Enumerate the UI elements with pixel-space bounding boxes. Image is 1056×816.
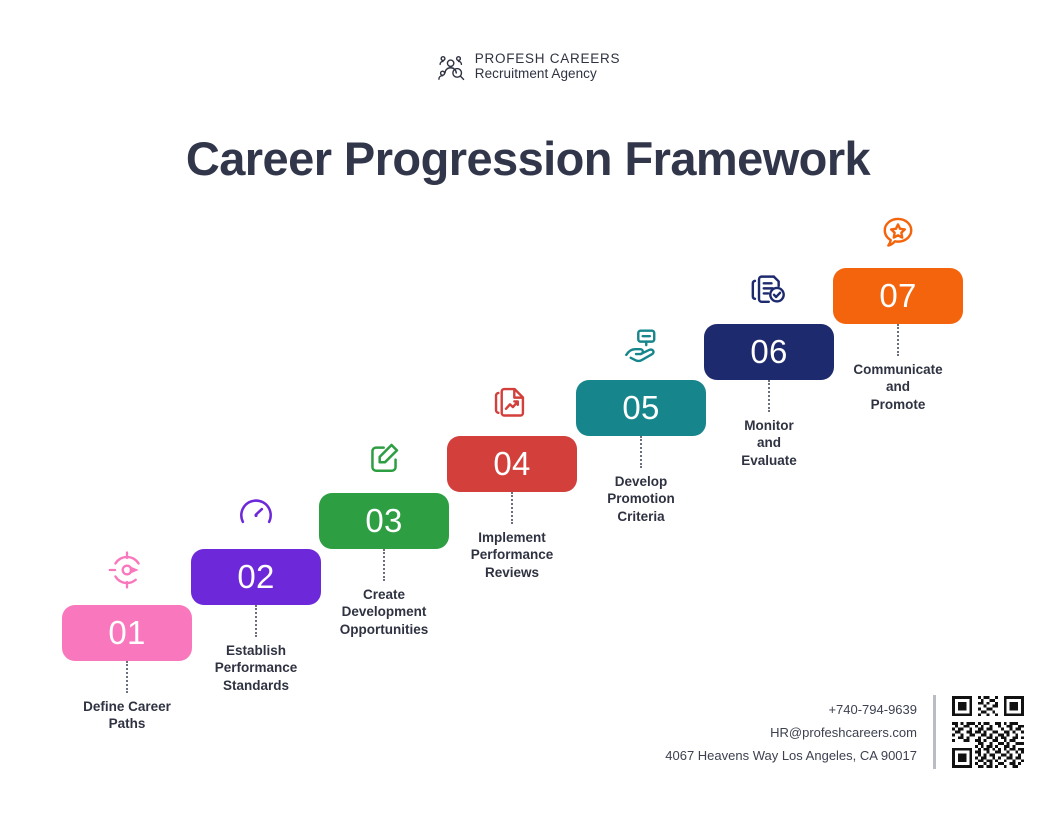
step-04-number: 04 bbox=[493, 445, 530, 483]
document-trend-chart-icon bbox=[491, 380, 533, 422]
step-01-number: 01 bbox=[108, 614, 145, 652]
step-03-connector bbox=[383, 549, 387, 581]
step-03-number: 03 bbox=[365, 502, 402, 540]
contact-email[interactable]: HR@profeshcareers.com bbox=[770, 725, 917, 740]
step-07-bar[interactable]: 07 bbox=[833, 268, 963, 324]
step-05-connector bbox=[640, 436, 644, 468]
infographic-page: PROFESH CAREERS Recruitment Agency Caree… bbox=[0, 0, 1056, 816]
step-07-label: Communicate and Promote bbox=[813, 361, 983, 413]
target-crosshair-icon bbox=[106, 549, 148, 591]
step-07-number: 07 bbox=[879, 277, 916, 315]
qr-code-icon[interactable] bbox=[952, 696, 1024, 768]
contact-address: 4067 Heavens Way Los Angeles, CA 90017 bbox=[665, 748, 917, 763]
step-06-label: Monitor and Evaluate bbox=[684, 417, 854, 469]
step-05-label: Develop Promotion Criteria bbox=[556, 473, 726, 525]
step-03-label: Create Development Opportunities bbox=[299, 586, 469, 638]
footer-contact-block: +740-794-9639 HR@profeshcareers.com 4067… bbox=[600, 690, 1024, 774]
hand-holding-screen-icon bbox=[620, 324, 662, 366]
contact-details: +740-794-9639 HR@profeshcareers.com 4067… bbox=[665, 702, 917, 763]
document-check-icon bbox=[748, 268, 790, 310]
step-01-connector bbox=[126, 661, 130, 693]
step-02-label: Establish Performance Standards bbox=[171, 642, 341, 694]
footer-divider bbox=[933, 695, 936, 769]
step-02-number: 02 bbox=[237, 558, 274, 596]
step-04-connector bbox=[511, 492, 515, 524]
step-06-number: 06 bbox=[750, 333, 787, 371]
step-06-connector bbox=[768, 380, 772, 412]
step-02-connector bbox=[255, 605, 259, 637]
step-04-label: Implement Performance Reviews bbox=[427, 529, 597, 581]
contact-phone[interactable]: +740-794-9639 bbox=[828, 702, 917, 717]
step-01-label: Define Career Paths bbox=[42, 698, 212, 733]
step-07-connector bbox=[897, 324, 901, 356]
speech-bubble-star-icon bbox=[877, 212, 919, 254]
speedometer-gauge-icon bbox=[235, 493, 277, 535]
edit-square-pencil-icon bbox=[363, 437, 405, 479]
step-05-number: 05 bbox=[622, 389, 659, 427]
